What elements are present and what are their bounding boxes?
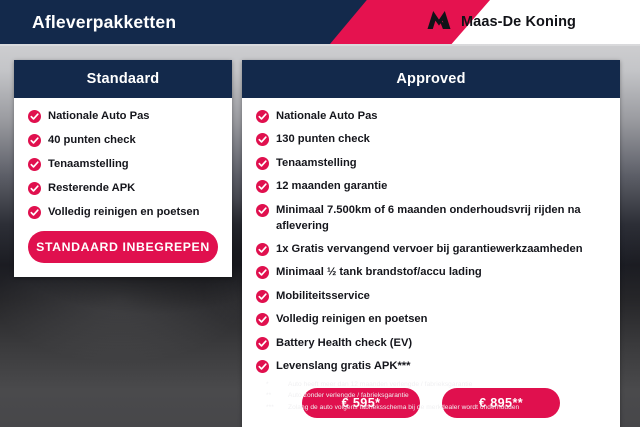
feature-label: Tenaamstelling — [48, 157, 129, 173]
feature-label: 1x Gratis vervangend vervoer bij garanti… — [276, 242, 583, 258]
package-card-approved: Approved Nationale Auto Pas — [242, 60, 620, 427]
list-item: Minimaal ½ tank brandstof/accu lading — [256, 265, 606, 281]
feature-label: 130 punten check — [276, 132, 370, 148]
brand-lockup: Maas-De Koning — [426, 0, 576, 44]
page-header: Afleverpakketten Maas-De Koning — [0, 0, 640, 44]
footnote-marker: * — [266, 379, 280, 390]
check-circle-icon — [28, 206, 41, 219]
page-title: Afleverpakketten — [32, 0, 176, 44]
check-circle-icon — [256, 180, 269, 193]
package-body-approved: Nationale Auto Pas 130 punten check — [242, 98, 620, 427]
list-item: 130 punten check — [256, 132, 606, 148]
brand-name: Maas-De Koning — [461, 14, 576, 30]
check-circle-icon — [256, 313, 269, 326]
list-item: Tenaamstelling — [28, 157, 218, 173]
check-circle-icon — [256, 290, 269, 303]
feature-label: Minimaal ½ tank brandstof/accu lading — [276, 265, 482, 281]
check-circle-icon — [256, 110, 269, 123]
feature-list-approved: Nationale Auto Pas 130 punten check — [256, 109, 606, 375]
maas-de-koning-m-logo-icon — [426, 10, 452, 35]
package-body-standaard: Nationale Auto Pas 40 punten check — [14, 98, 232, 277]
check-circle-icon — [256, 157, 269, 170]
feature-label: Minimaal 7.500km of 6 maanden onderhouds… — [276, 203, 606, 235]
feature-label: 12 maanden garantie — [276, 179, 387, 195]
list-item: Volledig reinigen en poetsen — [256, 312, 606, 328]
footnote-single-asterisk: * Auto heeft meer dan 12 maanden verleng… — [266, 379, 626, 390]
check-circle-icon — [28, 158, 41, 171]
check-circle-icon — [256, 337, 269, 350]
check-circle-icon — [256, 243, 269, 256]
feature-label: Volledig reinigen en poetsen — [48, 205, 199, 221]
list-item: 40 punten check — [28, 133, 218, 149]
feature-label: Nationale Auto Pas — [276, 109, 378, 125]
feature-label: Mobiliteitsservice — [276, 289, 370, 305]
footnote-double-asterisk: ** Auto zonder verlengde / fabrieksgaran… — [266, 390, 626, 401]
list-item: Minimaal 7.500km of 6 maanden onderhouds… — [256, 203, 606, 235]
list-item: Nationale Auto Pas — [28, 109, 218, 125]
list-item: Battery Health check (EV) — [256, 336, 606, 352]
package-title-standaard: Standaard — [14, 60, 232, 98]
check-circle-icon — [28, 182, 41, 195]
list-item: Tenaamstelling — [256, 156, 606, 172]
check-circle-icon — [256, 266, 269, 279]
check-circle-icon — [256, 204, 269, 217]
footnote-marker: ** — [266, 390, 280, 401]
feature-list-standaard: Nationale Auto Pas 40 punten check — [28, 109, 218, 221]
footnote-text: Auto heeft meer dan 12 maanden verlengde… — [288, 379, 626, 390]
feature-label: Resterende APK — [48, 181, 135, 197]
list-item: Levenslang gratis APK*** — [256, 359, 606, 375]
list-item: 1x Gratis vervangend vervoer bij garanti… — [256, 242, 606, 258]
check-circle-icon — [28, 134, 41, 147]
feature-label: 40 punten check — [48, 133, 136, 149]
feature-label: Tenaamstelling — [276, 156, 357, 172]
promo-screen: Afleverpakketten Maas-De Koning Standaar… — [0, 0, 640, 427]
footnote-text: Auto zonder verlengde / fabrieksgarantie — [288, 390, 626, 401]
feature-label: Nationale Auto Pas — [48, 109, 150, 125]
footnotes: * Auto heeft meer dan 12 maanden verleng… — [266, 379, 626, 413]
feature-label: Levenslang gratis APK*** — [276, 359, 411, 375]
footnote-text: Zolang de auto volgens fabrieksschema bi… — [288, 402, 626, 413]
check-circle-icon — [256, 133, 269, 146]
package-card-standaard: Standaard Nationale Auto Pas — [14, 60, 232, 277]
check-circle-icon — [28, 110, 41, 123]
standaard-inbegrepen-button[interactable]: STANDAARD INBEGREPEN — [28, 231, 218, 263]
list-item: Volledig reinigen en poetsen — [28, 205, 218, 221]
list-item: Nationale Auto Pas — [256, 109, 606, 125]
list-item: Mobiliteitsservice — [256, 289, 606, 305]
footnote-marker: *** — [266, 402, 280, 413]
feature-label: Volledig reinigen en poetsen — [276, 312, 427, 328]
check-circle-icon — [256, 360, 269, 373]
list-item: Resterende APK — [28, 181, 218, 197]
package-title-approved: Approved — [242, 60, 620, 98]
header-divider — [0, 44, 640, 46]
list-item: 12 maanden garantie — [256, 179, 606, 195]
feature-label: Battery Health check (EV) — [276, 336, 412, 352]
footnote-triple-asterisk: *** Zolang de auto volgens fabrieksschem… — [266, 402, 626, 413]
